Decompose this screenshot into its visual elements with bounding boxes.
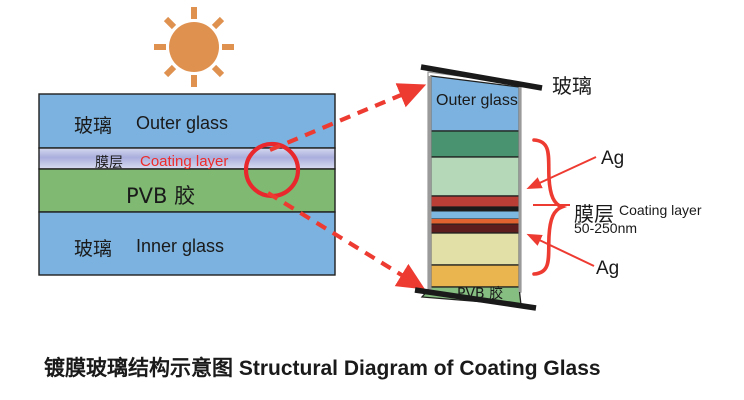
diagram-canvas: 玻璃 Outer glass 膜层 Coating layer PVB 胶 玻璃…	[0, 0, 744, 400]
rlayer-film-6	[431, 219, 519, 224]
figure-caption: 镀膜玻璃结构示意图 Structural Diagram of Coating …	[44, 352, 601, 382]
left-layer-label-pvb: PVB 胶	[126, 180, 195, 210]
sun-icon	[154, 7, 234, 87]
rlayer-film-5	[431, 211, 519, 219]
rlayer-film-2	[431, 157, 519, 196]
diagram-artwork	[0, 0, 744, 400]
ag-top-leader	[533, 157, 596, 186]
left-layer-label-outer-glass-en: Outer glass	[136, 113, 228, 134]
detail-layer-label-outer-glass: Outer glass	[436, 92, 518, 110]
annotation-ag-top: Ag	[601, 148, 624, 170]
coating-brace	[534, 140, 562, 274]
rlayer-film-8	[431, 233, 519, 265]
rlayer-film-7-ag	[431, 224, 519, 233]
annotation-coating-thickness: 50-250nm	[574, 220, 637, 236]
figure-caption-cn: 镀膜玻璃结构示意图	[44, 356, 233, 380]
figure-caption-en: Structural Diagram of Coating Glass	[233, 357, 601, 380]
left-layer-label-coating-cn: 膜层	[95, 152, 123, 172]
rlayer-film-1	[431, 131, 519, 157]
left-layer-label-inner-glass-en: Inner glass	[136, 236, 224, 257]
left-layer-label-inner-glass-cn: 玻璃	[74, 234, 112, 261]
detail-layer-label-pvb: PVB 胶	[457, 283, 503, 303]
left-layer-label-outer-glass-cn: 玻璃	[74, 111, 112, 138]
annotation-coating-en: Coating layer	[619, 202, 702, 218]
rlayer-film-4	[431, 207, 519, 211]
ag-bottom-leader	[533, 237, 594, 266]
detail-glass-annotation: 玻璃	[552, 70, 592, 99]
annotation-ag-bottom: Ag	[596, 258, 619, 280]
rlayer-film-3-ag	[431, 196, 519, 207]
left-layer-label-coating-en: Coating layer	[140, 153, 228, 170]
